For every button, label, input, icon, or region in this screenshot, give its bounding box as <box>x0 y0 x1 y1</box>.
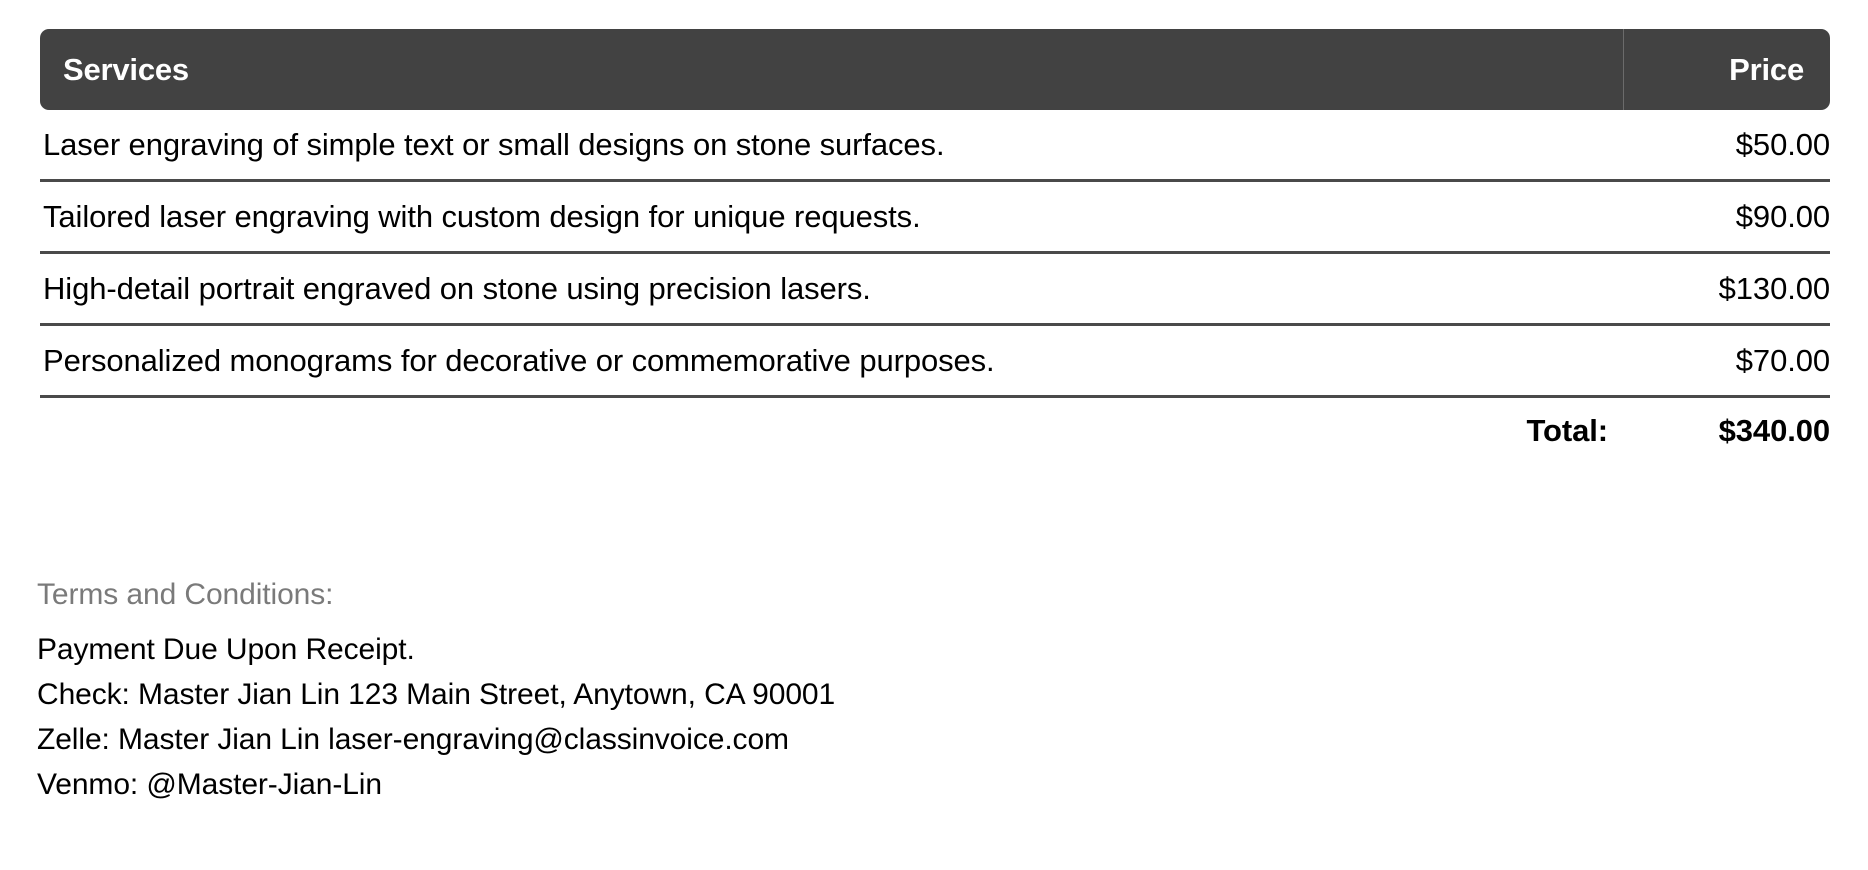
service-price: $70.00 <box>1736 343 1830 379</box>
service-description: Tailored laser engraving with custom des… <box>40 199 1736 235</box>
table-header-row: Services Price <box>40 29 1830 110</box>
column-header-services: Services <box>40 52 1623 88</box>
table-total-row: Total: $340.00 <box>40 398 1830 464</box>
service-price: $130.00 <box>1719 271 1830 307</box>
total-amount: $340.00 <box>1700 413 1830 449</box>
service-description: High-detail portrait engraved on stone u… <box>40 271 1719 307</box>
invoice-services-table: Services Price Laser engraving of simple… <box>0 0 1868 870</box>
terms-title: Terms and Conditions: <box>37 578 1827 612</box>
terms-and-conditions-section: Terms and Conditions: Payment Due Upon R… <box>37 578 1827 807</box>
terms-line-check: Check: Master Jian Lin 123 Main Street, … <box>37 672 1827 717</box>
table-row: Tailored laser engraving with custom des… <box>40 182 1830 254</box>
total-label: Total: <box>1527 413 1608 449</box>
service-description: Laser engraving of simple text or small … <box>40 127 1736 163</box>
service-price: $50.00 <box>1736 127 1830 163</box>
column-header-price: Price <box>1624 52 1830 88</box>
service-description: Personalized monograms for decorative or… <box>40 343 1736 379</box>
table-body: Laser engraving of simple text or small … <box>40 110 1830 464</box>
terms-line-venmo: Venmo: @Master-Jian-Lin <box>37 762 1827 807</box>
service-price: $90.00 <box>1736 199 1830 235</box>
terms-line-payment-due: Payment Due Upon Receipt. <box>37 627 1827 672</box>
table-row: Laser engraving of simple text or small … <box>40 110 1830 182</box>
table-row: High-detail portrait engraved on stone u… <box>40 254 1830 326</box>
terms-line-zelle: Zelle: Master Jian Lin laser-engraving@c… <box>37 717 1827 762</box>
table-row: Personalized monograms for decorative or… <box>40 326 1830 398</box>
